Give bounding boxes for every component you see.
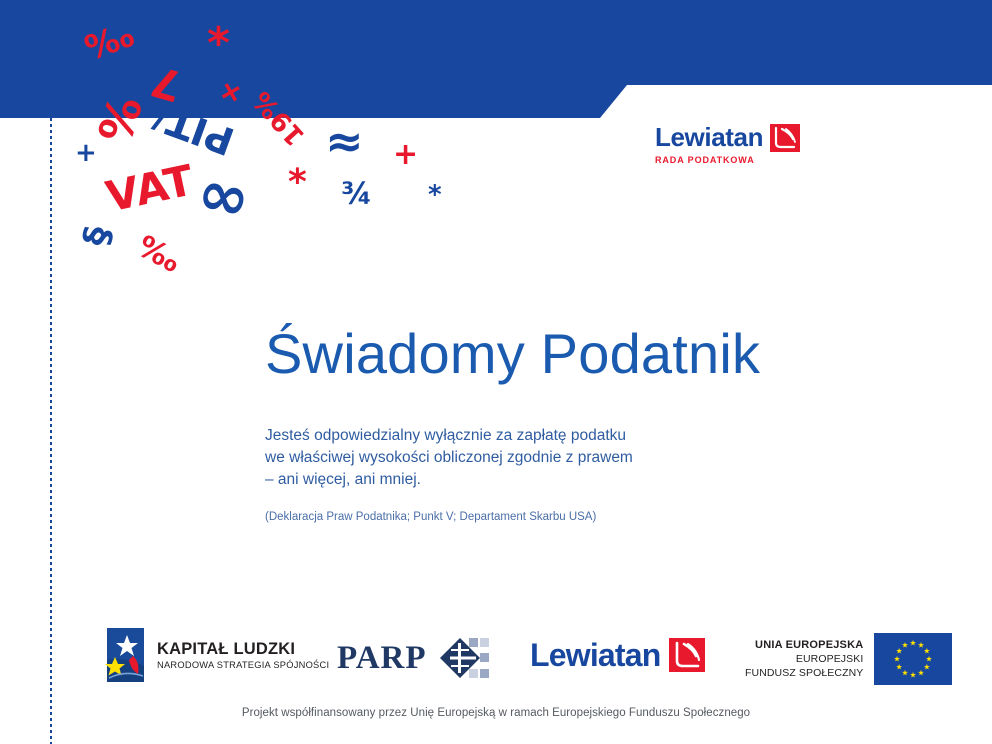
attribution-text: (Deklaracja Praw Podatnika; Punkt V; Dep… — [265, 511, 596, 523]
kapital-ludzki-line2: NARODOWA STRATEGIA SPÓJNOŚCI — [157, 659, 329, 671]
decorative-symbol: + — [75, 140, 97, 166]
lewiatan-rada-podatkowa-logo: Lewiatan RADA PODATKOWA — [655, 122, 800, 165]
footer-logo-strip: KAPITAŁ LUDZKI NARODOWA STRATEGIA SPÓJNO… — [0, 624, 992, 692]
lewiatan-red-mark — [770, 124, 800, 152]
kapital-ludzki-stars-mark — [103, 626, 148, 684]
kapital-ludzki-line1: KAPITAŁ LUDZKI — [157, 640, 329, 659]
decorative-symbol: * — [428, 182, 442, 208]
parp-diamond-mark — [438, 636, 490, 680]
decorative-symbol: % — [90, 90, 148, 148]
lewiatan-wordmark: Lewiatan — [655, 122, 763, 153]
decorative-symbols-cluster: ‰*7+%PIT/19%≈++VAT∞*¾*§‰ — [0, 0, 520, 300]
parp-wordmark: PARP — [337, 642, 427, 675]
body-text: Jesteś odpowiedzialny wyłącznie za zapła… — [265, 425, 633, 491]
decorative-symbol: * — [207, 22, 230, 66]
decorative-symbol: + — [212, 73, 249, 112]
decorative-symbol: VAT — [103, 159, 197, 218]
unia-europejska-line3: FUNDUSZ SPOŁECZNY — [745, 666, 863, 680]
decorative-symbol: 19% — [249, 86, 310, 150]
decorative-symbol: ∞ — [192, 160, 255, 231]
eu-flag-icon — [874, 633, 952, 685]
slide-canvas: ‰*7+%PIT/19%≈++VAT∞*¾*§‰ Lewiatan RADA P… — [0, 0, 992, 744]
decorative-symbol: * — [288, 165, 307, 201]
kapital-ludzki-text: KAPITAŁ LUDZKI NARODOWA STRATEGIA SPÓJNO… — [157, 640, 329, 671]
funding-caption: Projekt współfinansowany przez Unię Euro… — [0, 707, 992, 719]
decorative-symbol: ≈ — [325, 118, 364, 164]
decorative-symbol: ‰ — [81, 18, 139, 67]
unia-europejska-text: UNIA EUROPEJSKA EUROPEJSKI FUNDUSZ SPOŁE… — [745, 638, 863, 680]
decorative-symbol: ¾ — [341, 180, 372, 210]
lewiatan-footer-wordmark: Lewiatan — [530, 639, 661, 671]
unia-europejska-logo: UNIA EUROPEJSKA EUROPEJSKI FUNDUSZ SPOŁE… — [745, 633, 952, 685]
decorative-symbol: § — [78, 224, 117, 248]
lewiatan-red-mark — [669, 638, 705, 672]
parp-logo: PARP — [337, 636, 490, 680]
lewiatan-logo-subtitle: RADA PODATKOWA — [655, 155, 755, 165]
unia-europejska-line2: EUROPEJSKI — [796, 652, 864, 666]
lewiatan-footer-logo: Lewiatan — [530, 638, 705, 672]
lewiatan-logo-row: Lewiatan — [655, 122, 800, 153]
kapital-ludzki-logo: KAPITAŁ LUDZKI NARODOWA STRATEGIA SPÓJNO… — [103, 626, 329, 684]
decorative-symbol: + — [393, 140, 418, 170]
unia-europejska-line1: UNIA EUROPEJSKA — [755, 638, 863, 652]
decorative-symbol: ‰ — [132, 232, 184, 279]
page-title: Świadomy Podatnik — [265, 321, 760, 386]
